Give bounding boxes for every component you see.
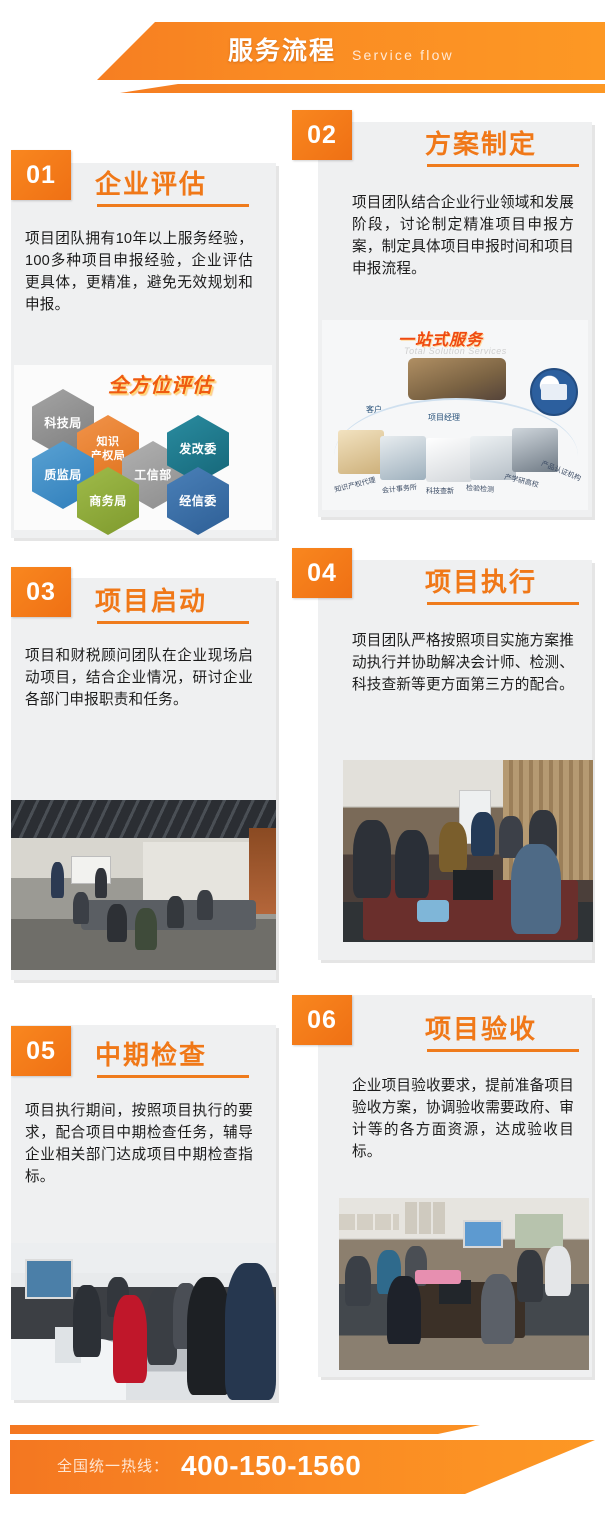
hex-node-label: 商务局 [89,494,127,508]
card-02-body: 项目团队结合企业行业领域和发展阶段，讨论制定精准项目申报方案，制定具体项目申报时… [352,192,574,280]
card-04-title: 项目执行 [425,566,537,598]
service-diagram-subtitle: Total Solution Services [404,346,507,356]
service-diagram-hub-photo [408,358,506,400]
footer-orange-stripe [10,1425,595,1434]
card-01-body: 项目团队拥有10年以上服务经验，100多种项目申报经验，企业评估更具体，更精准，… [25,228,253,316]
card-03-photo [11,800,276,970]
card-05-number-badge: 05 [11,1026,71,1076]
hex-node-label: 知识产权局 [91,435,126,463]
service-flow-page: 服务流程 Service flow 01 企业评估 项目团队拥有10年以上服务经… [0,0,605,1538]
page-header: 服务流程 Service flow [0,0,605,104]
service-diagram-label-novelty: 科技查新 [426,486,454,496]
service-diagram-label-khan: 客户 [366,404,382,415]
service-diagram-node-2 [380,436,426,480]
card-04-title-rule [427,602,579,605]
card-03-title-rule [97,621,249,624]
service-diagram-label-univ: 产学研高校 [503,472,539,490]
hex-node-label: 科技局 [44,416,82,430]
card-01-number-badge: 01 [11,150,71,200]
page-footer: 全国统一热线： 400-150-1560 [0,1424,605,1538]
header-orange-stripe [0,84,605,93]
card-06-body: 企业项目验收要求，提前准备项目验收方案，协调验收需要政府、审计等的各方面资源，达… [352,1075,574,1163]
card-03-number-badge: 03 [11,567,71,617]
card-03-body: 项目和财税顾问团队在企业现场启动项目，结合企业情况，研讨企业各部门申报职责和任务… [25,645,253,711]
service-diagram-label-acct: 会计事务所 [382,482,418,496]
card-01-title-rule [97,204,249,207]
service-diagram-label-ip: 知识产权代理 [333,475,376,495]
card-06-title-rule [427,1049,579,1052]
hex-diagram-title: 全方位评估 [108,369,213,398]
card-01-title: 企业评估 [95,168,207,200]
card-06-photo [339,1198,589,1370]
hotline-phone[interactable]: 400-150-1560 [181,1447,361,1485]
card-04-number-badge: 04 [292,548,352,598]
service-diagram-node-3 [426,438,472,482]
hex-node-label: 发改委 [179,442,217,456]
service-diagram-label-test: 检验检测 [466,483,495,495]
card-02-figure-service-diagram: 一站式服务 Total Solution Services 客户 项目经理 知识… [322,320,588,510]
page-subtitle: Service flow [352,40,454,70]
card-03-title: 项目启动 [95,585,207,617]
card-05-title: 中期检查 [95,1039,207,1071]
card-02-title: 方案制定 [425,128,537,160]
service-diagram-certification-seal-icon [530,368,578,416]
card-05-title-rule [97,1075,249,1078]
hex-node-label: 工信部 [134,468,172,482]
card-04-photo [343,760,593,942]
hex-node-label: 质监局 [44,468,82,482]
service-diagram-label-pm: 项目经理 [428,412,460,423]
card-06-number-badge: 06 [292,995,352,1045]
card-01-figure-hex-diagram: 全方位评估 科技局 知识产权局 质监局 工信部 商务局 发改委 经信委 [14,365,272,530]
card-05-body: 项目执行期间，按照项目执行的要求，配合项目中期检查任务，辅导企业相关部门达成项目… [25,1100,253,1188]
page-title: 服务流程 [228,28,336,74]
card-06-title: 项目验收 [425,1013,537,1045]
hotline-label: 全国统一热线： [57,1455,169,1479]
card-05-photo [11,1243,276,1400]
card-02-title-rule [427,164,579,167]
card-04-body: 项目团队严格按照项目实施方案推动执行并协助解决会计师、检测、科技查新等更方面第三… [352,630,574,696]
hex-node-label: 经信委 [179,494,217,508]
service-diagram-node-1 [338,430,384,474]
card-02-number-badge: 02 [292,110,352,160]
